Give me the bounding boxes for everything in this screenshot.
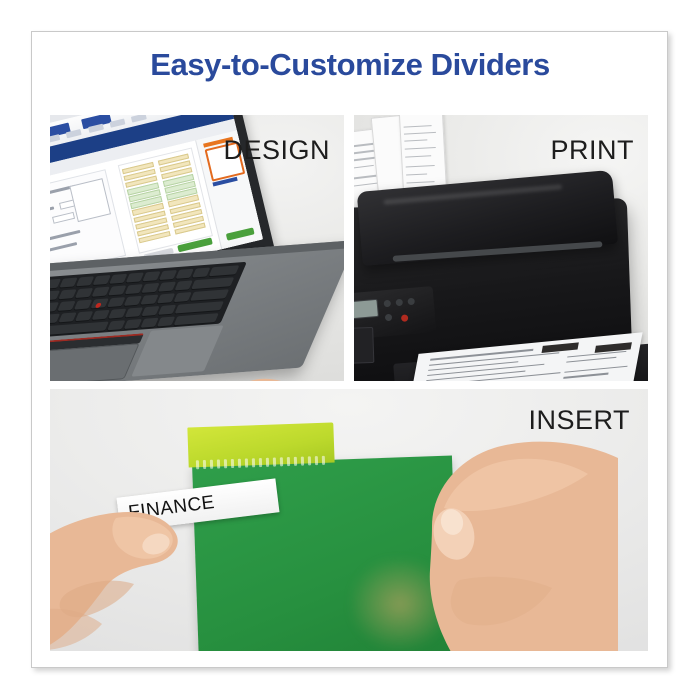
laptop-palmrest-right [131, 325, 223, 376]
printer-cartridge-door [354, 327, 374, 364]
printer-button[interactable] [407, 298, 415, 306]
printer-output-tray [393, 344, 648, 381]
page-title: Easy-to-Customize Dividers [0, 47, 700, 83]
right-hand [348, 430, 618, 651]
printer-button[interactable] [395, 299, 403, 307]
left-hand [50, 470, 250, 651]
panel-print: PRINT [354, 115, 648, 381]
ribbon-control [50, 134, 60, 144]
panel-label-insert: INSERT [528, 405, 630, 436]
printer-button[interactable] [385, 314, 393, 322]
printed-divider-sheets [406, 332, 642, 381]
panel-label-design: DESIGN [223, 135, 330, 166]
printer-lcd-display [354, 299, 379, 320]
form-input [52, 212, 75, 224]
printer-power-button[interactable] [401, 314, 409, 322]
printer-button[interactable] [384, 300, 392, 308]
form-option [50, 242, 77, 256]
printer-highlight [383, 185, 562, 206]
ribbon-control [131, 115, 147, 123]
panel-label-print: PRINT [551, 135, 635, 166]
ribbon-control [109, 118, 125, 128]
laptop-touchpad [50, 343, 140, 381]
form-preview-box [69, 178, 111, 222]
panel-design: DESIGN [50, 115, 344, 381]
printer-body [354, 198, 633, 381]
label-sheet-preview [117, 147, 213, 254]
laptop-base [50, 240, 344, 381]
screenshot-root: Easy-to-Customize Dividers [0, 0, 700, 700]
